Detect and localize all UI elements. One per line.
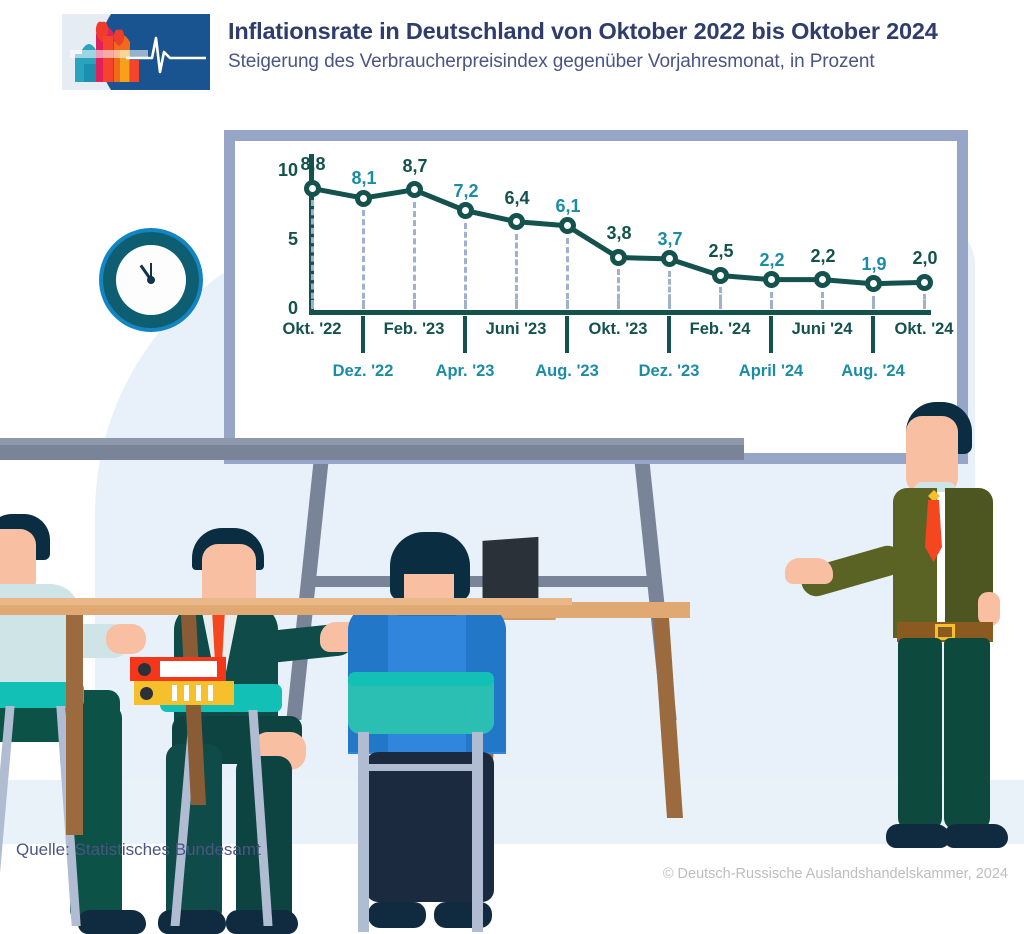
page-title: Inflationsrate in Deutschland von Oktobe… [228,18,1008,45]
x-axis-tick [515,300,518,309]
yellow-ring-binder [134,681,234,705]
data-point-marker[interactable] [763,271,780,288]
gridline-vertical [311,200,314,308]
whiteboard-tray [0,438,744,460]
data-point-marker[interactable] [712,267,729,284]
x-axis-tick [923,300,926,309]
x-axis-separator [361,316,365,353]
gridline-vertical [566,238,569,308]
binder-red-ring-hole [138,663,151,676]
gridline-vertical [362,210,365,308]
x-category-label: Feb. '24 [690,320,751,339]
x-category-label: Juni '24 [792,320,853,339]
data-point-marker[interactable] [406,181,423,198]
x-axis-separator [565,316,569,353]
data-point-marker[interactable] [661,250,678,267]
x-category-label: Feb. '23 [384,320,445,339]
x-category-label: Aug. '24 [841,362,905,381]
hand-presenter [785,558,833,584]
chair-back-top [348,672,494,686]
x-category-label: Dez. '23 [639,362,700,381]
copyright-note: © Deutsch-Russische Auslandshandelskamme… [663,866,1008,882]
data-point-value-label: 3,8 [606,223,631,244]
pulse-line-icon [126,32,206,76]
binder-stripe-4 [208,685,213,701]
chair-leg-back-b [472,732,483,932]
x-category-label: Okt. '22 [283,320,342,339]
x-category-label: Dez. '22 [333,362,394,381]
y-axis-tick-label: 5 [258,229,298,250]
data-point-value-label: 8,8 [300,154,325,175]
gridline-vertical [515,234,518,308]
data-point-marker[interactable] [508,213,525,230]
y-axis-tick-label: 10 [258,160,298,181]
gridline-vertical [413,202,416,308]
binder-stripe-3 [196,685,201,701]
clock-center-pin [147,276,155,284]
data-point-marker[interactable] [814,271,831,288]
shoe-left-presenter [886,824,950,848]
x-axis-tick [668,300,671,309]
inflation-line-chart: 0510 8,88,18,77,26,46,13,83,72,52,22,21,… [246,130,946,440]
data-point-marker[interactable] [559,217,576,234]
x-axis-tick [464,300,467,309]
data-point-marker[interactable] [865,275,882,292]
data-point-value-label: 3,7 [657,229,682,250]
shoe-right-presenter [944,824,1008,848]
data-point-marker[interactable] [916,274,933,291]
data-point-marker[interactable] [355,190,372,207]
binder-red-label [160,661,217,677]
x-axis-tick [566,300,569,309]
shoe-back-attendee [368,902,426,928]
x-category-label: Okt. '24 [895,320,954,339]
x-axis-separator [769,316,773,353]
table-top-front-highlight [0,598,572,605]
header: Inflationsrate in Deutschland von Oktobe… [0,0,1024,110]
x-axis-tick [719,300,722,309]
x-category-label: April '24 [739,362,803,381]
floor-band [0,780,1024,844]
x-category-label: Okt. '23 [589,320,648,339]
gridline-vertical [464,223,467,308]
chair-leg-back-a [358,732,369,932]
y-axis-tick-label: 0 [258,298,298,319]
x-category-label: Apr. '23 [436,362,495,381]
binder-stripe-1 [172,685,177,701]
clock-face [116,245,186,315]
binder-yellow-ring-hole [140,687,153,700]
trouser-left-presenter [898,638,942,830]
x-axis-separator [667,316,671,353]
source-note: Quelle: Statistisches Bundesamt [16,840,261,860]
data-point-marker[interactable] [304,180,321,197]
data-point-value-label: 7,2 [453,181,478,202]
page-subtitle: Steigerung des Verbraucherpreisindex geg… [228,51,1008,73]
x-category-label: Aug. '23 [535,362,599,381]
x-axis-separator [463,316,467,353]
chair-crossbar-back [358,764,483,771]
x-axis-tick [770,300,773,309]
shoe-left-attendee [78,910,146,934]
red-ring-binder [130,657,226,681]
x-axis-tick [617,300,620,309]
data-point-value-label: 6,1 [555,196,580,217]
x-axis-separator [871,316,875,353]
data-point-marker[interactable] [457,202,474,219]
table-leg-front-left [66,615,83,835]
data-point-value-label: 8,7 [402,156,427,177]
x-axis-tick [872,300,875,309]
data-point-value-label: 2,0 [912,248,937,269]
data-point-value-label: 1,9 [861,254,886,275]
data-point-marker[interactable] [610,249,627,266]
shoe2-back-attendee [434,902,492,928]
hand-left-attendee [106,624,146,654]
illustration-scene: 0510 8,88,18,77,26,46,13,83,72,52,22,21,… [0,104,1024,844]
x-axis-tick [362,300,365,309]
data-point-value-label: 2,5 [708,241,733,262]
x-axis-tick [821,300,824,309]
shoe2-suit-attendee [158,910,226,934]
x-category-label: Juni '23 [486,320,547,339]
data-point-value-label: 2,2 [810,246,835,267]
x-axis [309,310,931,315]
header-text: Inflationsrate in Deutschland von Oktobe… [228,18,1008,73]
data-point-value-label: 8,1 [351,168,376,189]
logo [62,14,210,90]
trouser-right-presenter [944,638,990,830]
x-axis-tick [311,300,314,309]
binder-stripe-2 [184,685,189,701]
data-point-value-label: 2,2 [759,250,784,271]
hand2-presenter [978,592,1000,626]
x-axis-tick [413,300,416,309]
wall-clock-icon [99,228,203,332]
data-point-value-label: 6,4 [504,188,529,209]
